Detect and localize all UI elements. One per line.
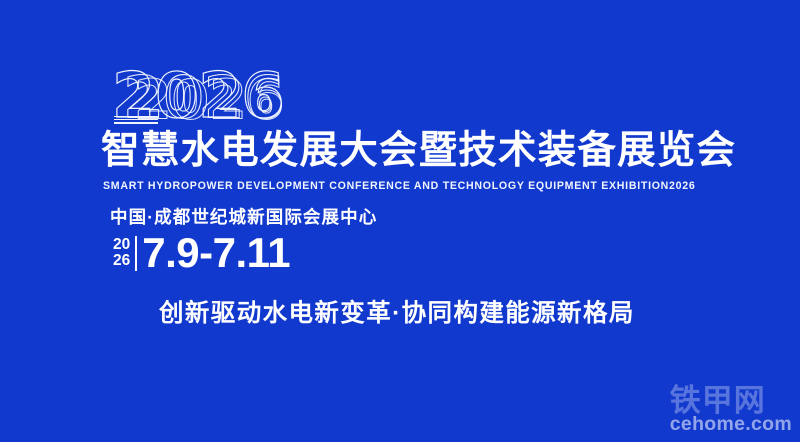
slogan-text: 创新驱动水电新变革·协同构建能源新格局 [159, 294, 635, 329]
date-range: 7.9-7.11 [142, 232, 290, 274]
venue-text: 中国·成都世纪城新国际会展中心 [110, 204, 377, 229]
year-underline-bar-2 [114, 119, 158, 120]
main-title: 智慧水电发展大会暨技术装备展览会 [101, 130, 701, 172]
watermark-brand-cn: 铁甲网 [670, 385, 792, 416]
watermark: 铁甲网 cehome.com [670, 385, 792, 434]
year-underline-bar-1 [114, 116, 158, 117]
date-year-top: 20 [113, 237, 130, 253]
date-year-stacked: 20 26 [113, 237, 130, 270]
date-year-bottom: 26 [113, 253, 130, 269]
watermark-brand-url: cehome.com [670, 414, 792, 434]
poster-banner: 2026 2026 2026 智慧水电发展大会暨技术装备展览会 SMART HY… [0, 0, 800, 442]
year-underline-bar-3 [114, 122, 158, 123]
date-divider [135, 236, 137, 271]
english-subtitle: SMART HYDROPOWER DEVELOPMENT CONFERENCE … [103, 180, 696, 192]
date-block: 20 26 7.9-7.11 [113, 231, 290, 275]
year-underline-bars [114, 116, 274, 127]
